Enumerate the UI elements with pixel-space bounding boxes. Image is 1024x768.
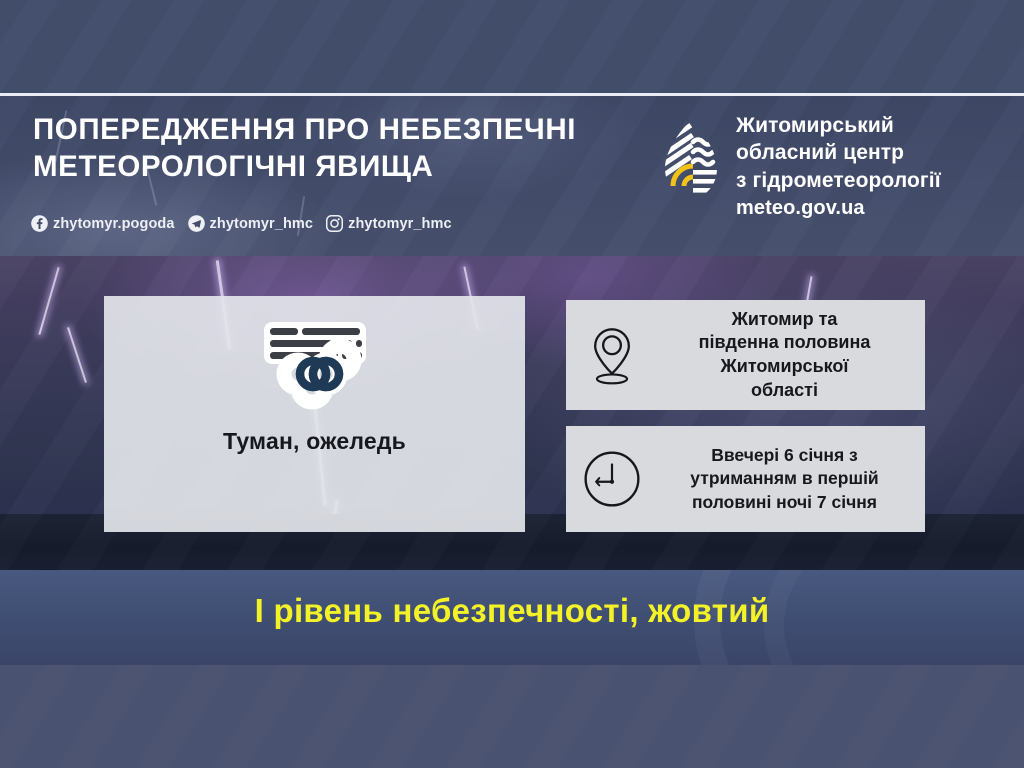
social-link-instagram[interactable]: zhytomyr_hmc xyxy=(325,214,452,233)
page-title-line1: ПОПЕРЕДЖЕННЯ ПРО НЕБЕЗПЕЧНІ xyxy=(33,113,576,146)
brand-name: Житомирський обласний центр з гідрометео… xyxy=(736,112,941,222)
page-title-line2: МЕТЕОРОЛОГІЧНІ ЯВИЩА xyxy=(33,149,653,186)
clock-icon xyxy=(566,449,658,509)
map-pin-icon xyxy=(566,324,658,386)
brand-website[interactable]: meteo.gov.ua xyxy=(736,195,941,222)
weather-warning-poster: ПОПЕРЕДЖЕННЯ ПРО НЕБЕЗПЕЧНІ МЕТЕОРОЛОГІЧ… xyxy=(0,0,1024,768)
diagonal-stripe-overlay xyxy=(0,665,1024,768)
facebook-handle: zhytomyr.pogoda xyxy=(53,216,175,232)
area-line-2: південна половина xyxy=(658,331,911,355)
phenomenon-card: Туман, ожеледь xyxy=(104,296,525,532)
time-line-1: Ввечері 6 січня з xyxy=(658,444,911,467)
page-title: ПОПЕРЕДЖЕННЯ ПРО НЕБЕЗПЕЧНІ МЕТЕОРОЛОГІЧ… xyxy=(33,112,653,185)
brand-line-1: Житомирський xyxy=(736,112,941,139)
danger-level-text: І рівень небезпечності, жовтий xyxy=(0,592,1024,630)
area-line-3: Житомирської xyxy=(658,355,911,379)
bottom-band xyxy=(0,665,1024,768)
diagonal-stripe-overlay xyxy=(0,0,1024,93)
facebook-icon xyxy=(30,214,49,233)
time-line-3: половині ночі 7 січня xyxy=(658,491,911,514)
telegram-icon xyxy=(187,214,206,233)
droplet-leaf-logo-icon xyxy=(660,118,722,204)
instagram-icon xyxy=(325,214,344,233)
brand-line-3: з гідрометеорології xyxy=(736,167,941,194)
social-link-facebook[interactable]: zhytomyr.pogoda xyxy=(30,214,175,233)
top-band xyxy=(0,0,1024,93)
time-info-text: Ввечері 6 січня з утриманням в першій по… xyxy=(658,444,925,513)
area-line-1: Житомир та xyxy=(658,308,911,332)
area-info-text: Житомир та південна половина Житомирсько… xyxy=(658,308,925,403)
time-info-box: Ввечері 6 січня з утриманням в першій по… xyxy=(566,426,925,532)
telegram-handle: zhytomyr_hmc xyxy=(210,216,314,232)
social-links: zhytomyr.pogoda zhytomyr_hmc zhytomyr_hm… xyxy=(30,214,464,233)
brand-block: Житомирський обласний центр з гідрометео… xyxy=(660,112,941,222)
phenomenon-label: Туман, ожеледь xyxy=(223,428,406,455)
area-info-box: Житомир та південна половина Житомирсько… xyxy=(566,300,925,410)
area-line-4: області xyxy=(658,379,911,403)
brand-line-2: обласний центр xyxy=(736,139,941,166)
time-line-2: утриманням в першій xyxy=(658,467,911,490)
instagram-handle: zhytomyr_hmc xyxy=(348,216,452,232)
fog-ice-icon xyxy=(250,316,380,412)
social-link-telegram[interactable]: zhytomyr_hmc xyxy=(187,214,314,233)
